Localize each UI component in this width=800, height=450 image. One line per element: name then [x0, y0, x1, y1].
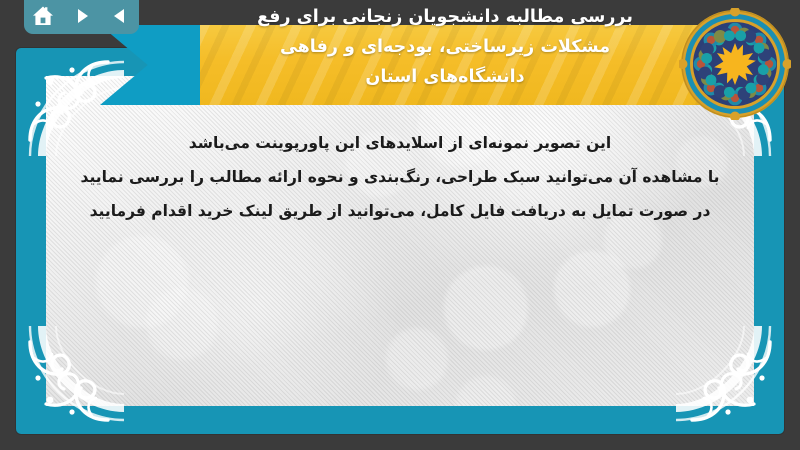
triangle-right-icon: [73, 7, 91, 25]
bokeh-circle: [456, 376, 516, 406]
bokeh-circle: [96, 236, 188, 328]
slide-frame: این تصویر نمونه‌ای از اسلایدهای این پاور…: [16, 48, 784, 434]
persian-medallion-ornament: [679, 8, 791, 120]
bokeh-circle: [146, 288, 218, 360]
body-line-2: با مشاهده آن می‌توانید سبک طراحی، رنگ‌بن…: [56, 160, 744, 194]
title-line-2: مشکلات زیرساختی، بودجه‌ای و رفاهی: [200, 32, 690, 62]
back-button[interactable]: [106, 3, 134, 29]
bokeh-circle: [554, 251, 630, 327]
body-line-1: این تصویر نمونه‌ای از اسلایدهای این پاور…: [56, 126, 744, 160]
slide-navigation-bar: [24, 0, 139, 34]
forward-button[interactable]: [68, 3, 96, 29]
title-line-3: دانشگاه‌های استان: [200, 62, 690, 92]
slide-body-text: این تصویر نمونه‌ای از اسلایدهای این پاور…: [56, 126, 744, 228]
home-button[interactable]: [29, 3, 57, 29]
presentation-title: بررسی مطالبه دانشجویان زنجانی برای رفع م…: [200, 2, 690, 92]
bokeh-circle: [444, 266, 528, 350]
title-line-1: بررسی مطالبه دانشجویان زنجانی برای رفع: [200, 2, 690, 32]
bokeh-circle: [386, 328, 448, 390]
home-icon: [32, 6, 54, 26]
triangle-left-icon: [111, 7, 129, 25]
body-line-3: در صورت تمایل به دریافت فایل کامل، می‌تو…: [56, 194, 744, 228]
